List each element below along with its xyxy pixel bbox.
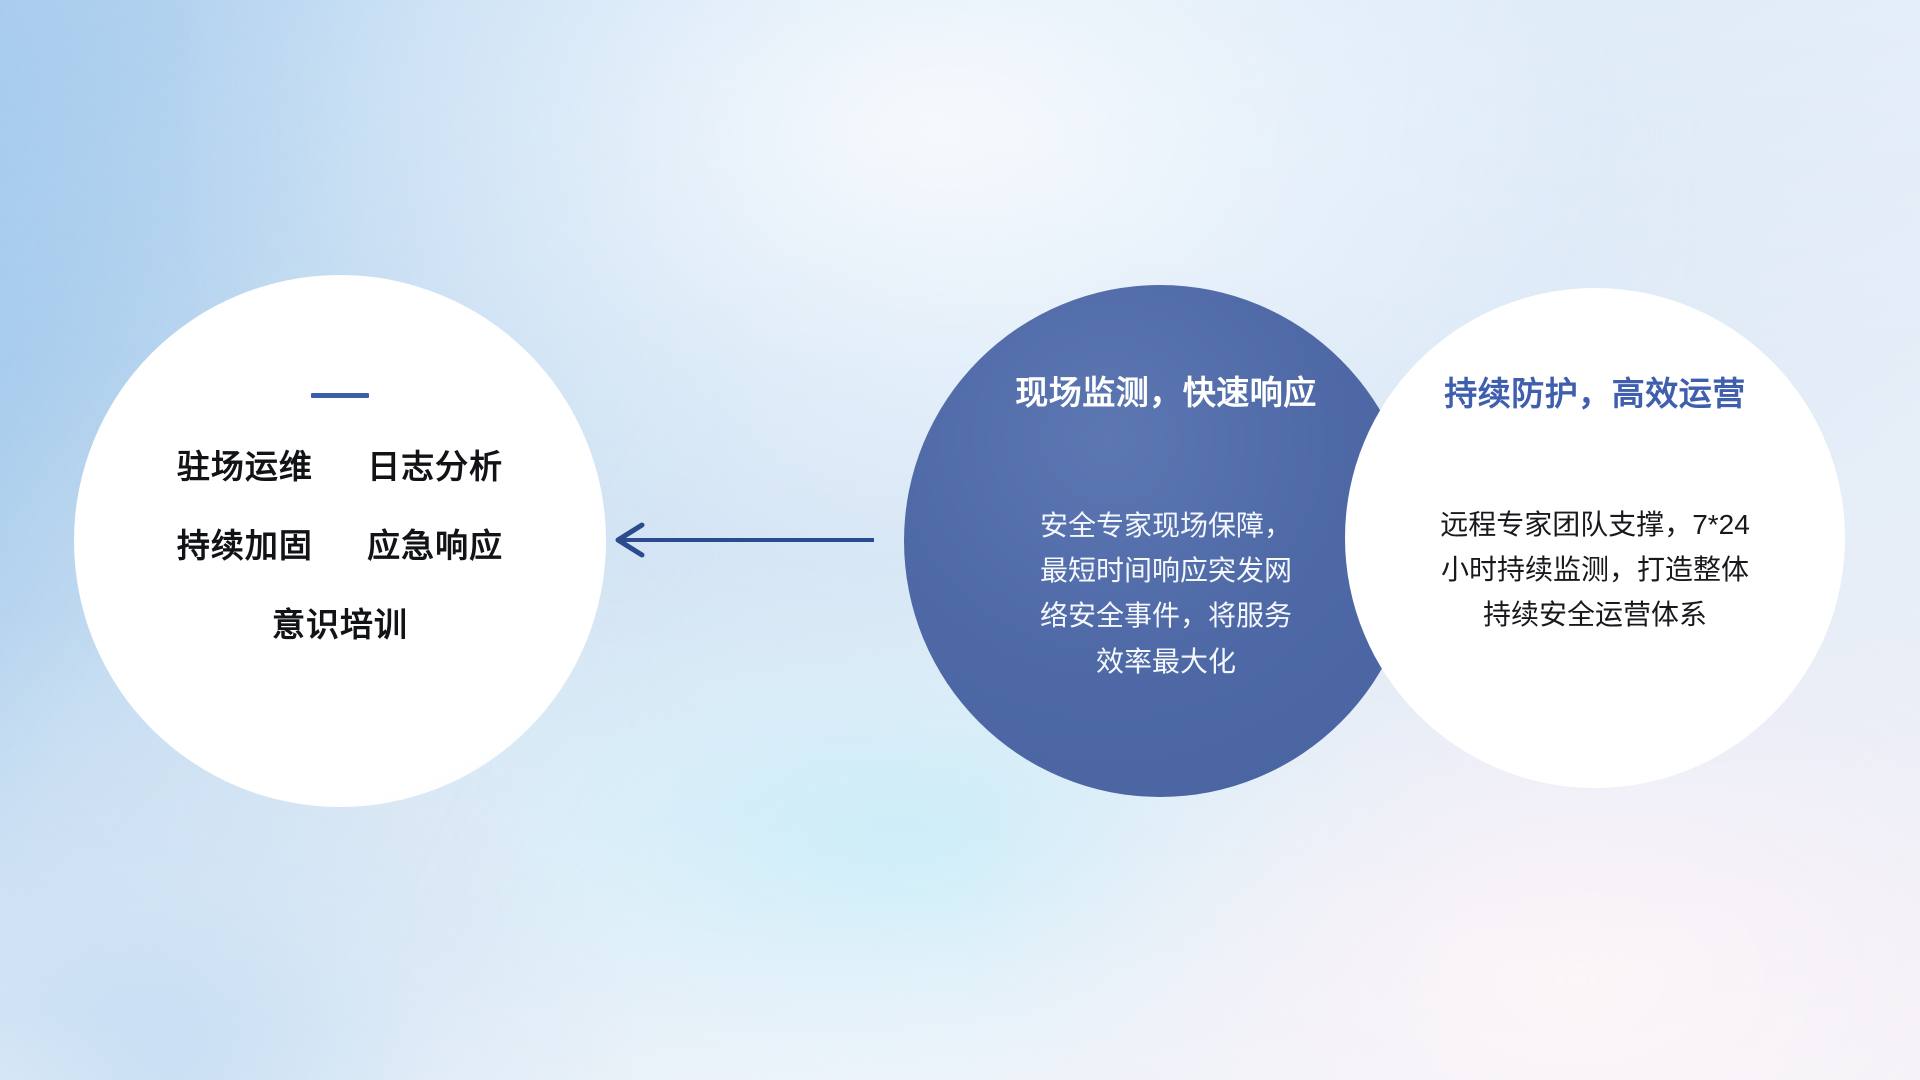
body-line: 远程专家团队支撑，7*24 <box>1389 502 1801 547</box>
capability-tag-row: 意识培训 <box>114 608 566 641</box>
capability-tags-circle: 驻场运维 日志分析 持续加固 应急响应 意识培训 <box>74 275 606 807</box>
divider-dash-icon <box>311 393 369 398</box>
continuous-protection-circle: 持续防护，高效运营 远程专家团队支撑，7*24 小时持续监测，打造整体 持续安全… <box>1345 288 1845 788</box>
slide-canvas: 驻场运维 日志分析 持续加固 应急响应 意识培训 现场监测，快速响应 安全专家现… <box>0 0 1920 1080</box>
onsite-monitoring-content: 现场监测，快速响应 安全专家现场保障， 最短时间响应突发网 络安全事件，将服务 … <box>904 373 1416 684</box>
body-line: 持续安全运营体系 <box>1389 592 1801 637</box>
body-line: 效率最大化 <box>982 639 1350 684</box>
onsite-monitoring-body: 安全专家现场保障， 最短时间响应突发网 络安全事件，将服务 效率最大化 <box>982 503 1350 684</box>
capability-tags-content: 驻场运维 日志分析 持续加固 应急响应 意识培训 <box>74 393 606 641</box>
body-line: 安全专家现场保障， <box>982 503 1350 548</box>
continuous-protection-heading: 持续防护，高效运营 <box>1389 374 1801 414</box>
continuous-protection-content: 持续防护，高效运营 远程专家团队支撑，7*24 小时持续监测，打造整体 持续安全… <box>1345 374 1845 638</box>
capability-tag: 应急响应 <box>367 527 503 564</box>
body-line: 最短时间响应突发网 <box>982 548 1350 593</box>
capability-tag: 驻场运维 <box>177 448 313 485</box>
capability-tag: 日志分析 <box>367 448 503 485</box>
onsite-monitoring-heading: 现场监测，快速响应 <box>982 373 1350 413</box>
capability-tag: 意识培训 <box>272 606 408 643</box>
body-line: 络安全事件，将服务 <box>982 593 1350 638</box>
body-line: 小时持续监测，打造整体 <box>1389 547 1801 592</box>
arrow-left-icon <box>596 508 876 572</box>
capability-tag-row: 持续加固 应急响应 <box>114 529 566 562</box>
capability-tag-row: 驻场运维 日志分析 <box>114 450 566 483</box>
onsite-monitoring-circle: 现场监测，快速响应 安全专家现场保障， 最短时间响应突发网 络安全事件，将服务 … <box>904 285 1416 797</box>
continuous-protection-body: 远程专家团队支撑，7*24 小时持续监测，打造整体 持续安全运营体系 <box>1389 502 1801 638</box>
capability-tag: 持续加固 <box>177 527 313 564</box>
